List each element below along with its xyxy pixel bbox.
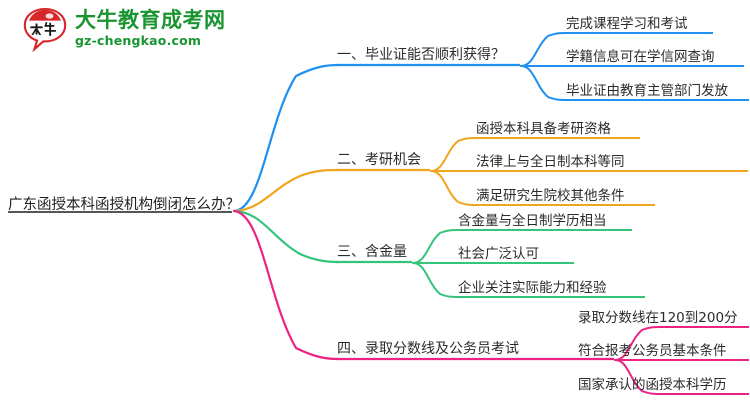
branch-node-3-label[interactable]: 三、含金量 <box>337 241 407 261</box>
branch-node-1-label[interactable]: 一、毕业证能否顺利获得？ <box>337 44 505 64</box>
leaf-node-2-1-label[interactable]: 函授本科具备考研资格 <box>476 117 611 137</box>
leaf-node-2-2-label[interactable]: 法律上与全日制本科等同 <box>476 150 625 170</box>
branch-2-leaf-3-stem <box>431 171 476 205</box>
branch-node-2-label[interactable]: 二、考研机会 <box>337 149 421 169</box>
branch-1-leaf-3-stem <box>521 66 566 100</box>
mindmap-canvas: 大牛教育成考网 gz-chengkao.com <box>0 0 750 410</box>
branch-3-leaf-1-stem <box>413 230 458 263</box>
leaf-node-4-1-label[interactable]: 录取分数线在120到200分 <box>578 306 738 326</box>
leaf-node-3-3-label[interactable]: 企业关注实际能力和经验 <box>458 276 607 296</box>
root-node-label[interactable]: 广东函授本科函授机构倒闭怎么办？ <box>8 193 240 214</box>
leaf-node-1-3-label[interactable]: 毕业证由教育主管部门发放 <box>566 79 728 99</box>
leaf-node-3-1-label[interactable]: 含金量与全日制学历相当 <box>458 209 607 229</box>
leaf-node-4-3-label[interactable]: 国家承认的函授本科学历 <box>578 373 727 393</box>
branch-1-stem <box>234 65 338 211</box>
leaf-node-3-2-label[interactable]: 社会广泛认可 <box>458 242 539 262</box>
branch-1-leaf-1-stem <box>521 33 566 66</box>
leaf-node-1-1-label[interactable]: 完成课程学习和考试 <box>566 12 688 32</box>
branch-2-leaf-1-stem <box>431 138 476 171</box>
branch-2-stem <box>234 170 338 211</box>
branch-3-leaf-3-stem <box>413 263 458 297</box>
branch-3-stem <box>234 211 338 262</box>
branch-4-stem <box>234 211 338 359</box>
leaf-node-2-3-label[interactable]: 满足研究生院校其他条件 <box>476 184 625 204</box>
leaf-node-4-2-label[interactable]: 符合报考公务员基本条件 <box>578 339 727 359</box>
leaf-node-1-2-label[interactable]: 学籍信息可在学信网查询 <box>566 45 715 65</box>
branch-node-4-label[interactable]: 四、录取分数线及公务员考试 <box>337 338 519 358</box>
